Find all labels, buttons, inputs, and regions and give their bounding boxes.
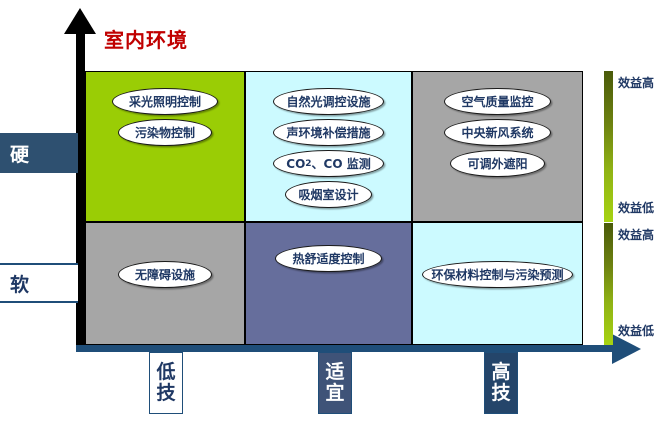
benefit-gradient-bar: [604, 223, 613, 345]
cell-soft-mid-items: 热舒适度控制: [246, 245, 411, 272]
item-pill-co2[interactable]: CO2、CO 监测: [273, 150, 383, 177]
cell-soft-high-items: 环保材料控制与污染预测: [413, 261, 582, 288]
column-label-low-tech-line1: 低: [156, 362, 175, 383]
vertical-axis-arrow-icon: [64, 8, 96, 34]
item-pill[interactable]: 中央新风系统: [444, 119, 550, 146]
item-pill[interactable]: 环保材料控制与污染预测: [422, 261, 572, 288]
cell-soft-low-items: 无障碍设施: [86, 261, 244, 288]
column-label-high-tech: 高 技: [484, 352, 518, 414]
benefit-low-label: 效益低: [618, 322, 654, 339]
item-pill[interactable]: 热舒适度控制: [275, 245, 381, 272]
column-label-high-tech-line2: 技: [491, 383, 510, 404]
item-pill[interactable]: 空气质量监控: [444, 88, 550, 115]
cell-soft-mid[interactable]: 热舒适度控制: [245, 222, 412, 345]
diagram-canvas: 室内环境 采光照明控制 污染物控制 自然光调控设施 声环境补偿措施 CO2、CO…: [0, 0, 663, 429]
benefit-low-label: 效益低: [618, 199, 654, 216]
co2-suffix: 、CO 监测: [312, 155, 371, 172]
cell-hard-high[interactable]: 空气质量监控 中央新风系统 可调外遮阳: [412, 71, 583, 222]
benefit-gradient-bar: [604, 71, 613, 222]
benefit-scale-soft: 效益高 效益低: [604, 223, 662, 345]
cell-hard-mid-items: 自然光调控设施 声环境补偿措施 CO2、CO 监测 吸烟室设计: [246, 88, 411, 208]
benefit-high-label: 效益高: [618, 74, 654, 91]
cell-hard-low-items: 采光照明控制 污染物控制: [86, 88, 244, 146]
item-pill[interactable]: 自然光调控设施: [273, 88, 383, 115]
cell-hard-low[interactable]: 采光照明控制 污染物控制: [85, 71, 245, 222]
row-label-soft: 软: [0, 263, 78, 303]
cell-hard-high-items: 空气质量监控 中央新风系统 可调外遮阳: [413, 88, 582, 177]
co2-prefix: CO: [286, 157, 305, 171]
cell-soft-low[interactable]: 无障碍设施: [85, 222, 245, 345]
item-pill[interactable]: 无障碍设施: [118, 261, 212, 288]
column-label-suitable: 适 宜: [318, 352, 352, 414]
cell-hard-mid[interactable]: 自然光调控设施 声环境补偿措施 CO2、CO 监测 吸烟室设计: [245, 71, 412, 222]
cell-soft-high[interactable]: 环保材料控制与污染预测: [412, 222, 583, 345]
column-label-high-tech-line1: 高: [491, 362, 510, 383]
row-label-hard: 硬: [0, 133, 78, 173]
item-pill[interactable]: 吸烟室设计: [285, 181, 371, 208]
page-title: 室内环境: [104, 24, 188, 53]
benefit-scale-hard: 效益高 效益低: [604, 71, 662, 222]
benefit-high-label: 效益高: [618, 226, 654, 243]
horizontal-axis-line: [76, 345, 621, 352]
item-pill[interactable]: 污染物控制: [118, 119, 212, 146]
item-pill[interactable]: 声环境补偿措施: [273, 119, 383, 146]
column-label-suitable-line2: 宜: [325, 383, 344, 404]
column-label-suitable-line1: 适: [325, 362, 344, 383]
column-label-low-tech-line2: 技: [156, 383, 175, 404]
item-pill[interactable]: 可调外遮阳: [450, 150, 544, 177]
column-label-low-tech: 低 技: [149, 352, 183, 414]
matrix-grid: 采光照明控制 污染物控制 自然光调控设施 声环境补偿措施 CO2、CO 监测 吸…: [85, 71, 583, 345]
item-pill[interactable]: 采光照明控制: [112, 88, 218, 115]
